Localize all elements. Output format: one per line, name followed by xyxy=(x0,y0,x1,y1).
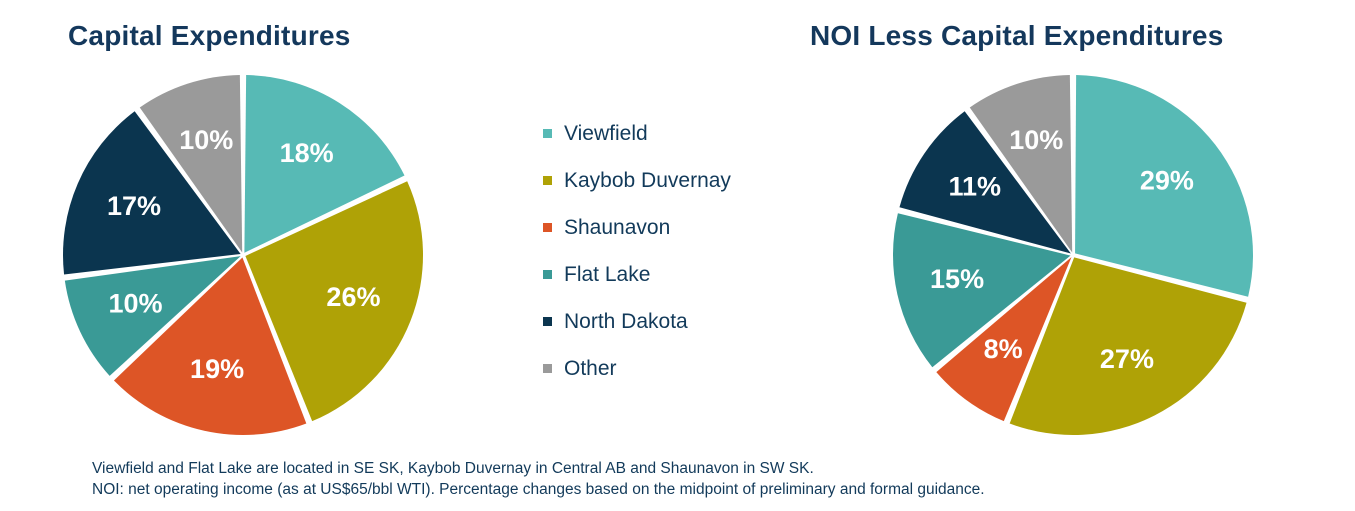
pie-slice-label: 15% xyxy=(930,264,984,294)
legend-swatch-icon xyxy=(543,270,552,279)
footnote-line: Viewfield and Flat Lake are located in S… xyxy=(92,458,1292,479)
legend-swatch-icon xyxy=(543,176,552,185)
pie-slice-label: 26% xyxy=(326,282,380,312)
legend-item-label: North Dakota xyxy=(564,311,688,332)
pie-slice-label: 18% xyxy=(280,138,334,168)
legend-item-label: Shaunavon xyxy=(564,217,670,238)
legend-item[interactable]: Flat Lake xyxy=(543,251,843,298)
pie-svg: 18%26%19%10%17%10% xyxy=(60,72,426,438)
legend-item[interactable]: North Dakota xyxy=(543,298,843,345)
chart-legend: ViewfieldKaybob DuvernayShaunavonFlat La… xyxy=(543,110,843,392)
footnote-block: Viewfield and Flat Lake are located in S… xyxy=(92,458,1292,500)
pie-slice-label: 10% xyxy=(179,125,233,155)
chart-title-capital-expenditures: Capital Expenditures xyxy=(68,22,351,50)
legend-swatch-icon xyxy=(543,364,552,373)
legend-swatch-icon xyxy=(543,223,552,232)
pie-slice-label: 10% xyxy=(1009,125,1063,155)
pie-slice-label: 29% xyxy=(1140,165,1194,195)
pie-slice-label: 27% xyxy=(1100,344,1154,374)
chart-title-noi-less-capital-expenditures: NOI Less Capital Expenditures xyxy=(810,22,1223,50)
legend-item[interactable]: Kaybob Duvernay xyxy=(543,157,843,204)
pie-slice-label: 19% xyxy=(190,354,244,384)
legend-item[interactable]: Other xyxy=(543,345,843,392)
pie-slice-label: 10% xyxy=(108,289,162,319)
pie-slice-label: 17% xyxy=(107,191,161,221)
legend-item[interactable]: Viewfield xyxy=(543,110,843,157)
legend-item-label: Other xyxy=(564,358,617,379)
pie-chart-capital-expenditures: 18%26%19%10%17%10% xyxy=(60,72,426,438)
legend-swatch-icon xyxy=(543,317,552,326)
legend-item-label: Viewfield xyxy=(564,123,648,144)
legend-item-label: Flat Lake xyxy=(564,264,650,285)
pie-slice-label: 8% xyxy=(984,334,1023,364)
footnote-line: NOI: net operating income (as at US$65/b… xyxy=(92,479,1292,500)
legend-swatch-icon xyxy=(543,129,552,138)
slide-canvas: Capital Expenditures NOI Less Capital Ex… xyxy=(0,0,1355,511)
pie-chart-noi-less-capital-expenditures: 29%27%8%15%11%10% xyxy=(890,72,1256,438)
pie-slice-label: 11% xyxy=(948,171,1001,201)
legend-item-label: Kaybob Duvernay xyxy=(564,170,731,191)
legend-item[interactable]: Shaunavon xyxy=(543,204,843,251)
pie-svg: 29%27%8%15%11%10% xyxy=(890,72,1256,438)
